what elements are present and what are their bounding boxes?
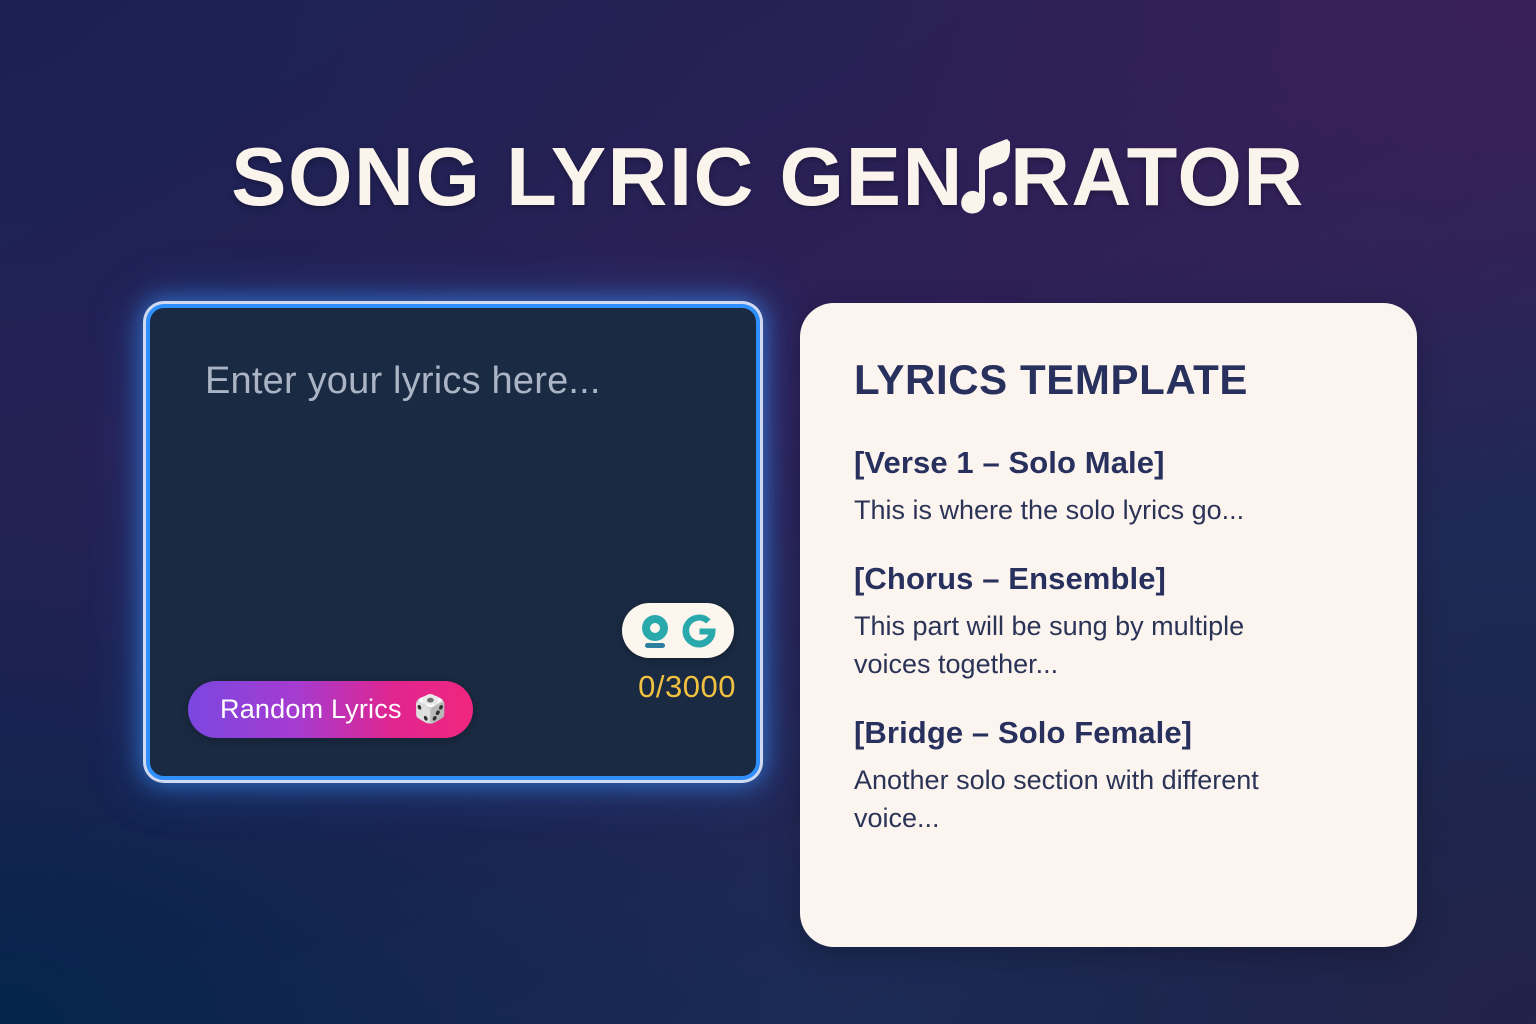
template-section-verse: [Verse 1 – Solo Male] This is where the … <box>854 443 1369 529</box>
template-section-body: Another solo section with different voic… <box>854 761 1324 837</box>
template-section-heading: [Chorus – Ensemble] <box>854 559 1369 599</box>
random-lyrics-label: Random Lyrics <box>220 696 402 723</box>
template-section-chorus: [Chorus – Ensemble] This part will be su… <box>854 559 1369 683</box>
lyrics-template-card: LYRICS TEMPLATE [Verse 1 – Solo Male] Th… <box>800 303 1417 947</box>
lyrics-textarea-placeholder[interactable]: Enter your lyrics here... <box>205 358 601 404</box>
page-title-part-1: SONG LYRIC GEN <box>231 130 964 223</box>
template-section-heading: [Bridge – Solo Female] <box>854 713 1369 753</box>
page-title-part-2: RATOR <box>1010 130 1305 223</box>
template-section-heading: [Verse 1 – Solo Male] <box>854 443 1369 483</box>
assistant-status-icon <box>639 614 671 648</box>
writing-assistant-badge[interactable] <box>622 603 734 658</box>
template-section-body: This part will be sung by multiple voice… <box>854 607 1324 683</box>
template-section-bridge: [Bridge – Solo Female] Another solo sect… <box>854 713 1369 837</box>
grammarly-g-icon <box>681 613 717 649</box>
lyrics-editor-panel[interactable]: Enter your lyrics here... Random Lyrics … <box>146 304 760 780</box>
character-counter: 0/3000 <box>638 670 736 704</box>
page-header: SONG LYRIC GEN RATOR <box>0 129 1536 225</box>
dice-icon: 🎲 <box>414 696 448 723</box>
random-lyrics-button[interactable]: Random Lyrics 🎲 <box>188 681 473 738</box>
template-section-body: This is where the solo lyrics go... <box>854 491 1324 529</box>
page-title: SONG LYRIC GEN RATOR <box>231 129 1305 225</box>
template-card-title: LYRICS TEMPLATE <box>854 355 1369 405</box>
